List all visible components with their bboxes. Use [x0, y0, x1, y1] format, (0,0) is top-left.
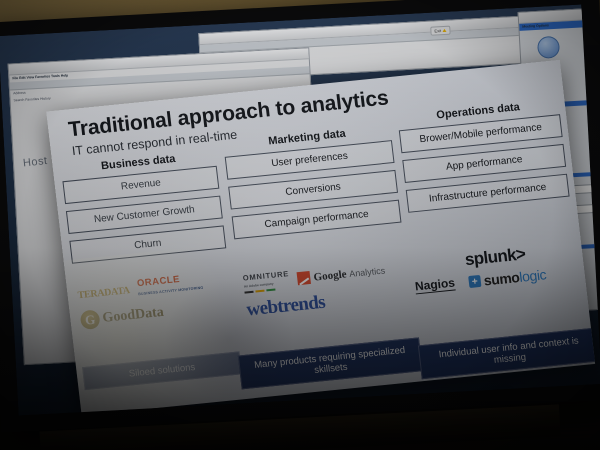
oracle-logo: ORACLE BUSINESS ACTIVITY MONITORING [137, 273, 204, 299]
column-operations-data: Operations data Brower/Mobile performanc… [397, 97, 571, 220]
logic-word: logic [518, 266, 547, 285]
nagios-logo: Nagios [414, 277, 455, 295]
sumo-word: sumo [483, 269, 520, 288]
sumologic-wordmark: sumologic [483, 266, 547, 288]
screenshot-stage: Talking Now Anand File Edit View Favorit… [0, 0, 600, 450]
exit-button[interactable]: Exit [430, 26, 450, 36]
banner-siloed-solutions: Siloed solutions [82, 351, 242, 390]
tv-screen: Talking Now Anand File Edit View Favorit… [0, 4, 600, 415]
analytics-word: Analytics [349, 265, 386, 279]
logos-business: TERADATA ORACLE BUSINESS ACTIVITY MONITO… [77, 270, 231, 330]
google-word: Google [313, 268, 347, 283]
column-marketing-data: Marketing data User preferences Conversi… [223, 123, 403, 246]
logos-marketing: OMNITURE An Adobe company Google [242, 259, 407, 322]
gooddata-mark-icon: G [80, 309, 101, 330]
teradata-logo: TERADATA [77, 285, 130, 301]
google-analytics-icon [297, 271, 311, 285]
google-analytics-wordmark: Google Analytics [313, 264, 386, 283]
presentation-slide: Traditional approach to analytics IT can… [46, 60, 595, 416]
television: Talking Now Anand File Edit View Favorit… [0, 0, 600, 432]
column-business-data: Business data Revenue New Customer Growt… [60, 149, 227, 271]
warning-icon [442, 29, 446, 32]
google-analytics-logo: Google Analytics [297, 263, 386, 285]
sumologic-mark-icon: + [468, 275, 481, 288]
exit-button-label: Exit [434, 28, 441, 33]
sumologic-logo: + sumologic [468, 266, 547, 290]
logos-operations: splunk> Nagios + sumologic [411, 239, 582, 301]
omniture-logo: OMNITURE An Adobe company [242, 270, 290, 294]
banner-many-products: Many products requiring specialized skil… [238, 337, 423, 389]
gooddata-wordmark: GoodData [102, 304, 165, 326]
